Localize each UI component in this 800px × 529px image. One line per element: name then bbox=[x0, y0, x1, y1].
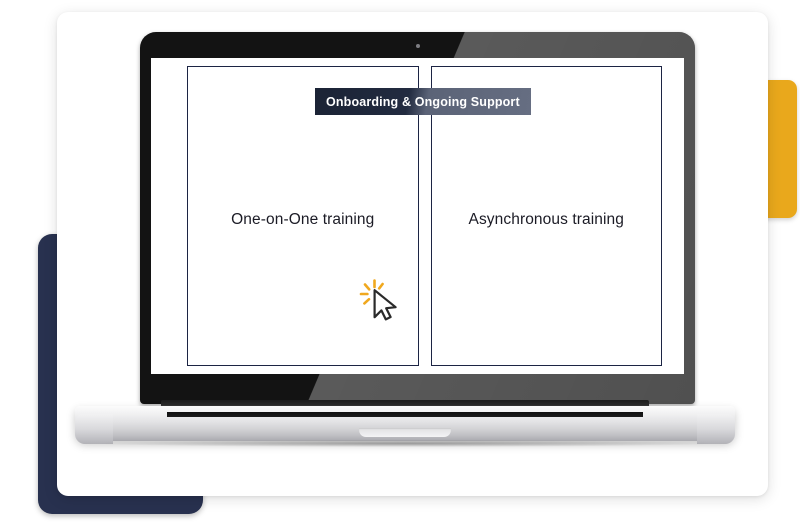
base-shadow bbox=[101, 440, 709, 447]
laptop-screen: One-on-One training Asynchronous trainin… bbox=[151, 58, 684, 374]
laptop-mockup: One-on-One training Asynchronous trainin… bbox=[75, 32, 735, 457]
laptop-lid: One-on-One training Asynchronous trainin… bbox=[140, 32, 695, 404]
scene-root: One-on-One training Asynchronous trainin… bbox=[0, 0, 800, 529]
slide-banner: Onboarding & Ongoing Support bbox=[315, 88, 531, 115]
panel-label: One-on-One training bbox=[231, 211, 374, 229]
laptop-base bbox=[75, 400, 735, 448]
click-cursor-icon bbox=[357, 276, 403, 322]
webcam-icon bbox=[416, 44, 420, 48]
keyboard-strip bbox=[167, 412, 643, 417]
base-body bbox=[75, 406, 735, 441]
lid-latch-notch bbox=[359, 428, 451, 437]
panel-label: Asynchronous training bbox=[469, 211, 624, 229]
